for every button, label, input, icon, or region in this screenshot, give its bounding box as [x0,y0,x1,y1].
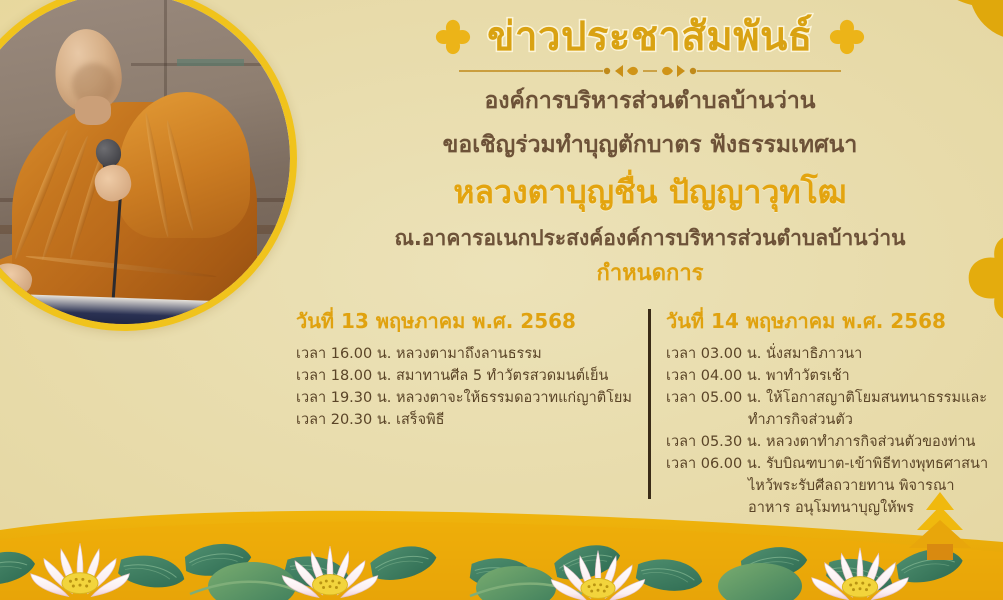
schedule-item: เวลา 05.30 น. หลวงตาทำภารกิจส่วนตัวของท่… [666,431,986,453]
agenda-label: กำหนดการ [300,260,1000,289]
schedule-item: เวลา 03.00 น. นั่งสมาธิภาวนา [666,343,986,365]
quatrefoil-ornament-left-icon [435,19,471,55]
schedule-section: วันที่ 13 พฤษภาคม พ.ศ. 2568 เวลา 16.00 น… [296,305,986,505]
schedule-item: เวลา 05.00 น. ให้โอกาสญาติโยมสนทนาธรรมแล… [666,387,986,431]
monk-name: หลวงตาบุญชื่น ปัญญาวุทโฒ [300,172,1000,214]
schedule-item-text: เวลา 05.00 น. ให้โอกาสญาติโยมสนทนาธรรมแล… [666,390,987,406]
venue-line: ณ.อาคารอเนกประสงค์องค์การบริหารส่วนตำบลบ… [300,224,1000,252]
schedule-item-text: เวลา 06.00 น. รับบิณฑบาต-เข้าพิธีทางพุทธ… [666,456,988,472]
schedule-item: เวลา 18.00 น. สมาทานศีล 5 ทำวัตรสวดมนต์เ… [296,365,630,387]
title-row: ข่าวประชาสัมพันธ์ [300,14,1000,60]
monk-photo [0,0,297,331]
day1-date-heading: วันที่ 13 พฤษภาคม พ.ศ. 2568 [296,305,630,337]
title-divider-ornament [455,62,845,80]
invitation-line: ขอเชิญร่วมทำบุญตักบาตร ฟังธรรมเทศนา [300,130,1000,161]
schedule-item: เวลา 16.00 น. หลวงตามาถึงลานธรรม [296,343,630,365]
header-block: ข่าวประชาสัมพันธ์ องค์การบริหารส่วนตำบลบ… [300,14,1000,289]
schedule-column-day1: วันที่ 13 พฤษภาคม พ.ศ. 2568 เวลา 16.00 น… [296,305,648,505]
day2-date-heading: วันที่ 14 พฤษภาคม พ.ศ. 2568 [666,305,986,337]
gold-pagoda-ornament-icon [897,486,983,572]
quatrefoil-ornament-right-icon [829,19,865,55]
lotus-flower-band [0,482,1003,600]
organization-name: องค์การบริหารส่วนตำบลบ้านว่าน [300,86,1000,117]
poster-canvas: ข่าวประชาสัมพันธ์ องค์การบริหารส่วนตำบลบ… [0,0,1003,600]
schedule-item: เวลา 20.30 น. เสร็จพิธี [296,409,630,431]
schedule-item: เวลา 19.30 น. หลวงตาจะให้ธรรมดอวาทแก่ญาต… [296,387,630,409]
page-title: ข่าวประชาสัมพันธ์ [487,14,813,60]
schedule-item: เวลา 04.00 น. พาทำวัตรเช้า [666,365,986,387]
schedule-item-continuation: ทำภารกิจส่วนตัว [666,409,986,431]
schedule-column-day2: วันที่ 14 พฤษภาคม พ.ศ. 2568 เวลา 03.00 น… [648,305,986,505]
